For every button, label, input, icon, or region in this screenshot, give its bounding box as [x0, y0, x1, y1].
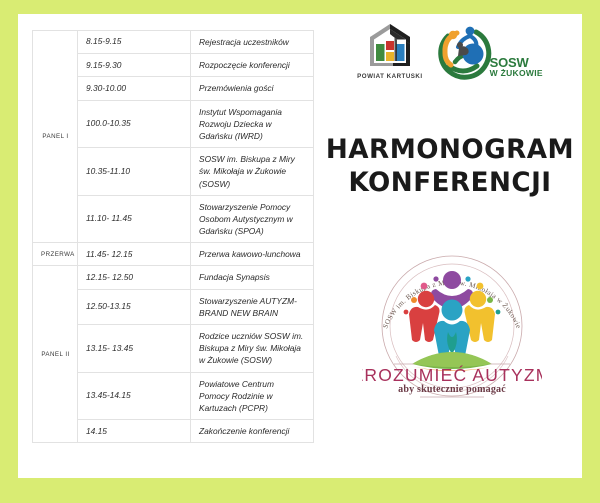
emblem-graphic: SOSW im. Biskupa z Miry św. Mikołaja w Ż…: [362, 252, 542, 400]
schedule-description-cell: Fundacja Synapsis: [191, 266, 314, 289]
schedule-description-cell: Przerwa kawowo-lunchowa: [191, 243, 314, 266]
poster-title: HARMONOGRAM KONFERENCJI: [318, 134, 582, 200]
title-line-2: KONFERENCJI: [322, 167, 578, 200]
schedule-description-cell: Rejestracja uczestników: [191, 31, 314, 54]
schedule-time-cell: 9.30-10.00: [78, 77, 191, 100]
sosw-logo-wrap: SOSW W ŻUKOWIE: [435, 22, 543, 82]
schedule-description-cell: Rozpoczęcie konferencji: [191, 54, 314, 77]
powiat-kartuski-logo: POWIAT KARTUSKI: [357, 22, 422, 80]
emblem-main-text: ZROZUMIEĆ AUTYZM: [362, 364, 542, 385]
logos-row: POWIAT KARTUSKI: [318, 22, 582, 100]
schedule-time-cell: 8.15-9.15: [78, 31, 191, 54]
sosw-people-icon: [435, 22, 493, 82]
sosw-wordmark: SOSW W ŻUKOWIE: [490, 56, 543, 82]
schedule-time-cell: 9.15-9.30: [78, 54, 191, 77]
schedule-time-cell: 13.45-14.15: [78, 372, 191, 420]
panel-label-cell: PANEL I: [33, 31, 78, 243]
schedule-description-cell: Powiatowe Centrum Pomocy Rodzinie w Kart…: [191, 372, 314, 420]
schedule-time-cell: 11.45- 12.15: [78, 243, 191, 266]
panel-label-cell: PRZERWA: [33, 243, 78, 266]
sosw-word-primary: SOSW: [490, 56, 543, 69]
table-row: PANEL II12.15- 12.50Fundacja Synapsis: [33, 266, 314, 289]
sosw-zukowo-logo: SOSW W ŻUKOWIE: [435, 22, 543, 82]
emblem-sub-text: aby skutecznie pomagać: [398, 384, 506, 395]
schedule-time-cell: 13.15- 13.45: [78, 325, 191, 373]
powiat-kartuski-caption: POWIAT KARTUSKI: [357, 73, 422, 80]
house-shield-icon: [367, 22, 413, 70]
schedule-description-cell: Stowarzyszenie Pomocy Osobom Autystyczny…: [191, 195, 314, 243]
schedule-description-cell: Przemówienia gości: [191, 77, 314, 100]
emblem-people-figures: [404, 271, 501, 371]
schedule-description-cell: Stowarzyszenie AUTYZM-BRAND NEW BRAIN: [191, 289, 314, 324]
schedule-description-cell: Rodzice uczniów SOSW im. Biskupa z Miry …: [191, 325, 314, 373]
schedule-description-cell: Zakończenie konferencji: [191, 420, 314, 443]
sosw-word-secondary: W ŻUKOWIE: [490, 69, 543, 78]
schedule-description-cell: Instytut Wspomagania Rozwoju Dziecka w G…: [191, 100, 314, 148]
table-row: PANEL I8.15-9.15Rejestracja uczestników: [33, 31, 314, 54]
schedule-table-body: PANEL I8.15-9.15Rejestracja uczestników9…: [33, 31, 314, 443]
zrozumiec-autyzm-emblem: SOSW im. Biskupa z Miry św. Mikołaja w Ż…: [362, 252, 542, 400]
conference-schedule-table: PANEL I8.15-9.15Rejestracja uczestników9…: [32, 30, 314, 443]
schedule-time-cell: 12.15- 12.50: [78, 266, 191, 289]
schedule-time-cell: 10.35-11.10: [78, 148, 191, 196]
schedule-time-cell: 100.0-10.35: [78, 100, 191, 148]
title-line-1: HARMONOGRAM: [322, 134, 578, 167]
poster-right-column: POWIAT KARTUSKI: [318, 14, 582, 478]
conference-schedule-poster: PANEL I8.15-9.15Rejestracja uczestników9…: [0, 0, 600, 503]
poster-white-card: PANEL I8.15-9.15Rejestracja uczestników9…: [18, 14, 582, 478]
schedule-description-cell: SOSW im. Biskupa z Miry św. Mikołaja w Ż…: [191, 148, 314, 196]
panel-label-cell: PANEL II: [33, 266, 78, 443]
schedule-time-cell: 11.10- 11.45: [78, 195, 191, 243]
table-row: PRZERWA11.45- 12.15Przerwa kawowo-luncho…: [33, 243, 314, 266]
schedule-time-cell: 14.15: [78, 420, 191, 443]
schedule-time-cell: 12.50-13.15: [78, 289, 191, 324]
